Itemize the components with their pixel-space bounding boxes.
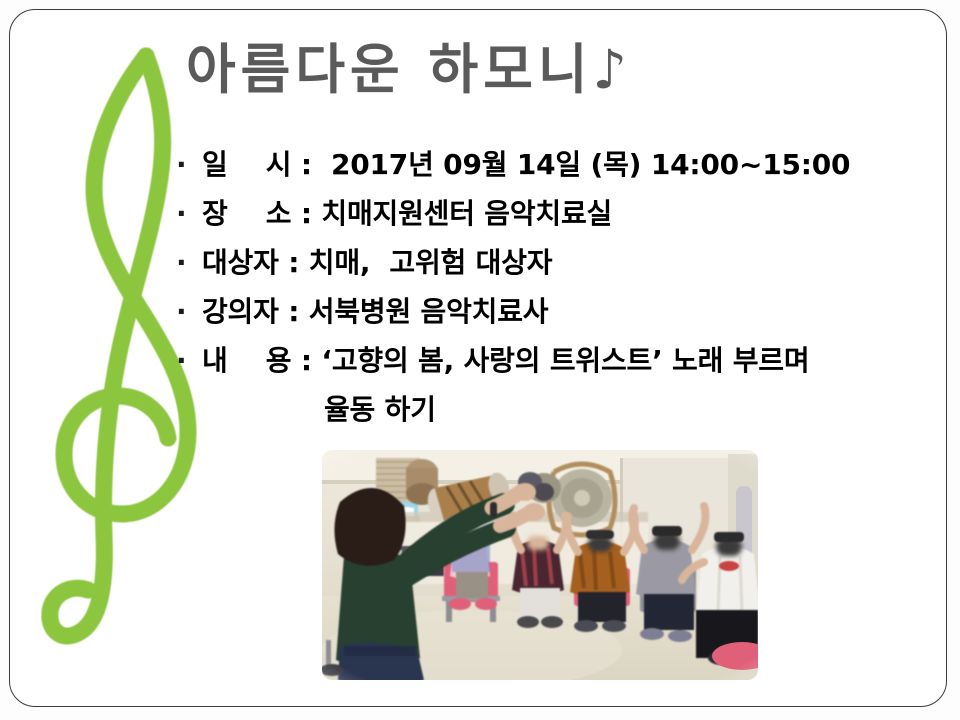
bullet-marker: · — [176, 295, 192, 328]
bullet-marker: · — [176, 246, 192, 279]
list-item-text: 강의자 : 서북병원 음악치료사 — [192, 295, 548, 328]
list-item: · 장 소 : 치매지원센터 음악치료실 — [176, 189, 936, 238]
list-item-text: 내 용 : ‘고향의 봄, 사랑의 트위스트’ 노래 부르며 — [192, 344, 809, 377]
presentation-slide: 아름다운 하모니♪ · 일 시 : 2017년 09월 14일 (목) 14:0… — [0, 0, 960, 720]
detail-list: · 일 시 : 2017년 09월 14일 (목) 14:00~15:00 · … — [176, 140, 936, 434]
list-item: · 강의자 : 서북병원 음악치료사 — [176, 287, 936, 336]
page-title: 아름다운 하모니♪ — [186, 42, 632, 99]
list-item-continuation: 율동 하기 — [176, 385, 936, 434]
list-item-text: 장 소 : 치매지원센터 음악치료실 — [192, 197, 612, 230]
bullet-marker: · — [176, 148, 192, 181]
bullet-marker: · — [176, 197, 192, 230]
list-item-text: 일 시 : 2017년 09월 14일 (목) 14:00~15:00 — [192, 148, 850, 181]
music-therapy-session-photo — [322, 450, 758, 680]
list-item: · 대상자 : 치매, 고위험 대상자 — [176, 238, 936, 287]
bullet-marker: · — [176, 344, 192, 377]
list-item-text: 대상자 : 치매, 고위험 대상자 — [192, 246, 552, 279]
list-item: · 일 시 : 2017년 09월 14일 (목) 14:00~15:00 — [176, 140, 936, 189]
list-item: · 내 용 : ‘고향의 봄, 사랑의 트위스트’ 노래 부르며 — [176, 336, 936, 385]
